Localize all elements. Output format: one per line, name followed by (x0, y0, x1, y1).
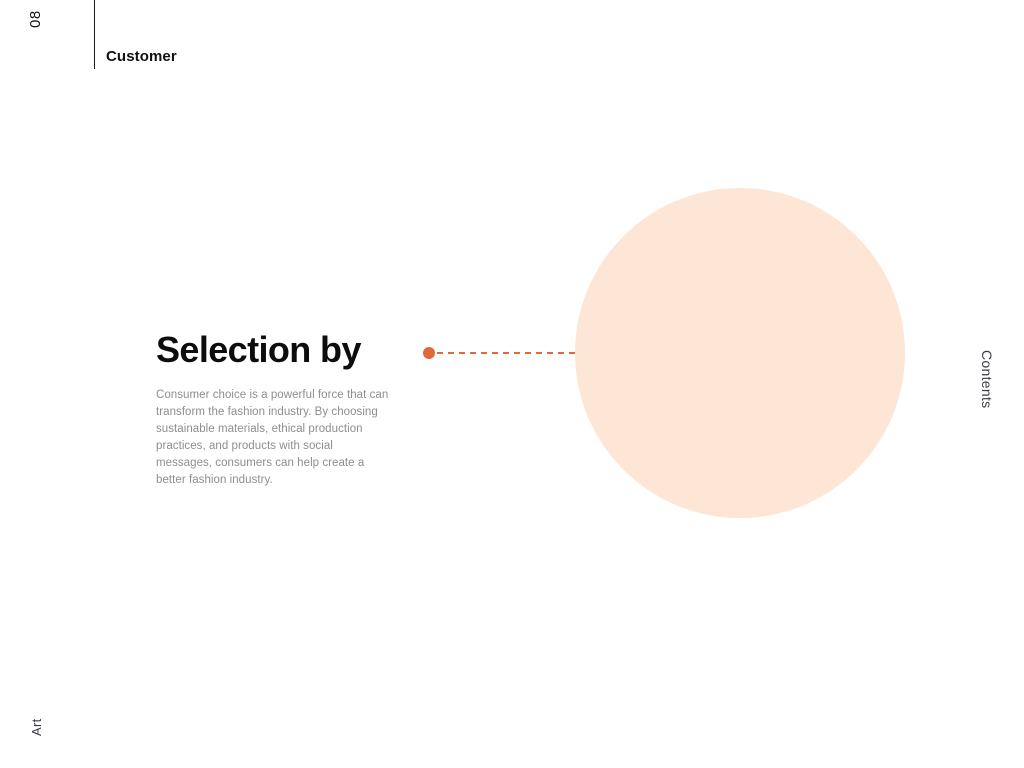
text-block: Selection by Consumer choice is a powerf… (156, 330, 394, 489)
contents-label[interactable]: Contents (980, 350, 994, 408)
header-title: Customer (106, 49, 177, 66)
outer-ring-circle: Product Changes (575, 188, 905, 518)
page-title: Selection by (156, 330, 394, 370)
connector-dot-icon (423, 347, 435, 359)
page-number: 08 (28, 10, 43, 28)
header-divider (94, 0, 95, 69)
body-paragraph: Consumer choice is a powerful force that… (156, 387, 392, 489)
brand-label: Art (30, 718, 43, 736)
slide-canvas: 08 Customer Selection by Consumer choice… (0, 0, 1024, 768)
